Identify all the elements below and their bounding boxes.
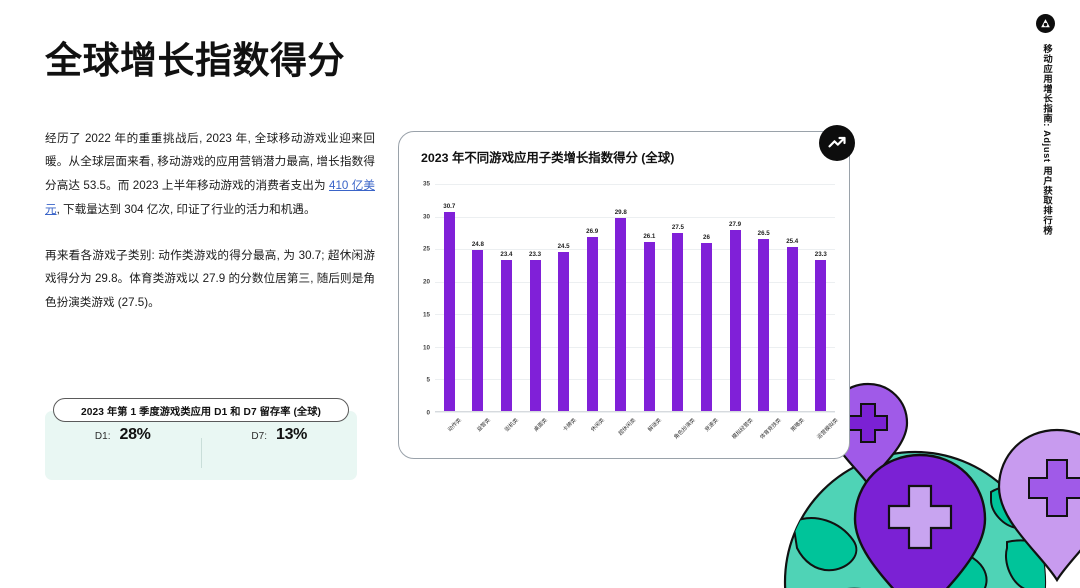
y-axis-tick: 0	[426, 410, 430, 417]
chart-bar[interactable]	[672, 233, 683, 412]
bar-slot: 26	[692, 184, 721, 412]
x-label-slot: 角色扮演类	[664, 412, 693, 448]
chart-bar[interactable]	[501, 260, 512, 412]
stat-d7: D7: 13%	[202, 426, 358, 480]
bar-value-label: 26	[703, 234, 710, 241]
bar-slot: 26.9	[578, 184, 607, 412]
bar-value-label: 24.5	[558, 243, 570, 250]
x-label-slot: 运营模拟类	[807, 412, 836, 448]
y-axis-tick: 25	[423, 246, 430, 253]
chart-bar[interactable]	[701, 243, 712, 412]
chart-bar[interactable]	[444, 212, 455, 412]
bar-slot: 23.3	[521, 184, 550, 412]
y-axis-tick: 20	[423, 279, 430, 286]
body-paragraph-2: 再来看各游戏子类别: 动作类游戏的得分最高, 为 30.7; 超休闲游戏得分为 …	[45, 244, 375, 315]
paragraph-1-post: , 下载量达到 304 亿次, 印证了行业的活力和机遇。	[57, 203, 316, 216]
bar-value-label: 26.9	[586, 228, 598, 235]
retention-stat-card: 2023 年第 1 季度游戏类应用 D1 和 D7 留存率 (全球) D1: 2…	[45, 398, 357, 480]
stat-d1-label: D1:	[95, 431, 111, 442]
page-title: 全球增长指数得分	[45, 40, 375, 83]
chart-bar[interactable]	[615, 218, 626, 412]
bar-slot: 24.5	[549, 184, 578, 412]
slide-page: 全球增长指数得分 经历了 2022 年的重重挑战后, 2023 年, 全球移动游…	[0, 0, 1080, 588]
x-label-slot: 模拟经营类	[721, 412, 750, 448]
x-label-slot: 动作类	[435, 412, 464, 448]
bar-value-label: 26.1	[643, 233, 655, 240]
x-label-slot: 超休闲类	[606, 412, 635, 448]
x-label-slot: 解谜类	[635, 412, 664, 448]
x-label-slot: 休闲类	[578, 412, 607, 448]
stat-d7-label: D7:	[251, 431, 267, 442]
x-axis-tick: 益智类	[475, 416, 492, 433]
x-axis-tick: 街机类	[503, 416, 520, 433]
chart-title: 2023 年不同游戏应用子类增长指数得分 (全球)	[421, 148, 674, 166]
bar-value-label: 27.5	[672, 224, 684, 231]
x-label-slot: 体育竞技类	[749, 412, 778, 448]
bar-value-label: 26.5	[758, 230, 770, 237]
chart-x-labels: 动作类益智类街机类桌面类卡牌类休闲类超休闲类解谜类角色扮演类竞速类模拟经营类体育…	[435, 412, 835, 448]
bar-slot: 25.4	[778, 184, 807, 412]
stat-d1-value: 28%	[119, 426, 150, 444]
y-axis-tick: 30	[423, 213, 430, 220]
bar-slot: 23.4	[492, 184, 521, 412]
x-axis-tick: 卡牌类	[560, 416, 577, 433]
chart-bar[interactable]	[758, 239, 769, 412]
y-axis-tick: 5	[426, 377, 430, 384]
bar-value-label: 23.3	[815, 251, 827, 258]
body-paragraph-1: 经历了 2022 年的重重挑战后, 2023 年, 全球移动游戏业迎来回暖。从全…	[45, 127, 375, 222]
chart-bar[interactable]	[558, 252, 569, 412]
chart-bar[interactable]	[530, 260, 541, 412]
chart-card: 2023 年不同游戏应用子类增长指数得分 (全球) 05101520253035…	[398, 131, 850, 459]
bar-slot: 24.8	[464, 184, 493, 412]
bar-value-label: 23.3	[529, 251, 541, 258]
x-axis-tick: 运营模拟类	[815, 416, 840, 441]
chart-bar[interactable]	[644, 242, 655, 412]
x-axis-tick: 休闲类	[589, 416, 606, 433]
x-axis-tick: 解谜类	[646, 416, 663, 433]
bar-value-label: 24.8	[472, 241, 484, 248]
x-label-slot: 桌面类	[521, 412, 550, 448]
chart-plot-area: 05101520253035 30.724.823.423.324.526.92…	[435, 184, 835, 412]
retention-card-heading: 2023 年第 1 季度游戏类应用 D1 和 D7 留存率 (全球)	[53, 398, 349, 422]
bar-value-label: 29.8	[615, 209, 627, 216]
paragraph-1-pre: 经历了 2022 年的重重挑战后, 2023 年, 全球移动游戏业迎来回暖。从全…	[45, 132, 375, 193]
chart-bars: 30.724.823.423.324.526.929.826.127.52627…	[435, 184, 835, 412]
bar-slot: 30.7	[435, 184, 464, 412]
x-label-slot: 街机类	[492, 412, 521, 448]
x-axis-tick: 策略类	[789, 416, 806, 433]
bar-slot: 29.8	[606, 184, 635, 412]
adjust-logo-icon	[1036, 14, 1055, 33]
x-axis-tick: 桌面类	[532, 416, 549, 433]
bar-slot: 26.5	[749, 184, 778, 412]
bar-value-label: 30.7	[443, 203, 455, 210]
bar-slot: 27.9	[721, 184, 750, 412]
chart-bar[interactable]	[787, 247, 798, 412]
bar-slot: 23.3	[807, 184, 836, 412]
rail-caption: 移动应用增长指南: Adjust 用户获取排行榜	[1040, 44, 1054, 235]
chart-bar[interactable]	[587, 237, 598, 412]
y-axis-tick: 15	[423, 311, 430, 318]
y-axis-tick: 35	[423, 181, 430, 188]
stat-d1: D1: 28%	[45, 426, 201, 480]
y-axis-tick: 10	[423, 344, 430, 351]
chart-bar[interactable]	[472, 250, 483, 412]
bar-slot: 27.5	[664, 184, 693, 412]
bar-value-label: 25.4	[786, 238, 798, 245]
x-label-slot: 竞速类	[692, 412, 721, 448]
x-axis-tick: 竞速类	[703, 416, 720, 433]
x-label-slot: 策略类	[778, 412, 807, 448]
left-column: 全球增长指数得分 经历了 2022 年的重重挑战后, 2023 年, 全球移动游…	[45, 40, 375, 331]
x-label-slot: 卡牌类	[549, 412, 578, 448]
x-axis-tick: 动作类	[446, 416, 463, 433]
trending-up-icon	[819, 125, 855, 161]
bar-value-label: 27.9	[729, 221, 741, 228]
chart-bar[interactable]	[730, 230, 741, 412]
chart-bar[interactable]	[815, 260, 826, 412]
x-label-slot: 益智类	[464, 412, 493, 448]
bar-slot: 26.1	[635, 184, 664, 412]
bar-value-label: 23.4	[500, 251, 512, 258]
stat-d7-value: 13%	[276, 426, 307, 444]
